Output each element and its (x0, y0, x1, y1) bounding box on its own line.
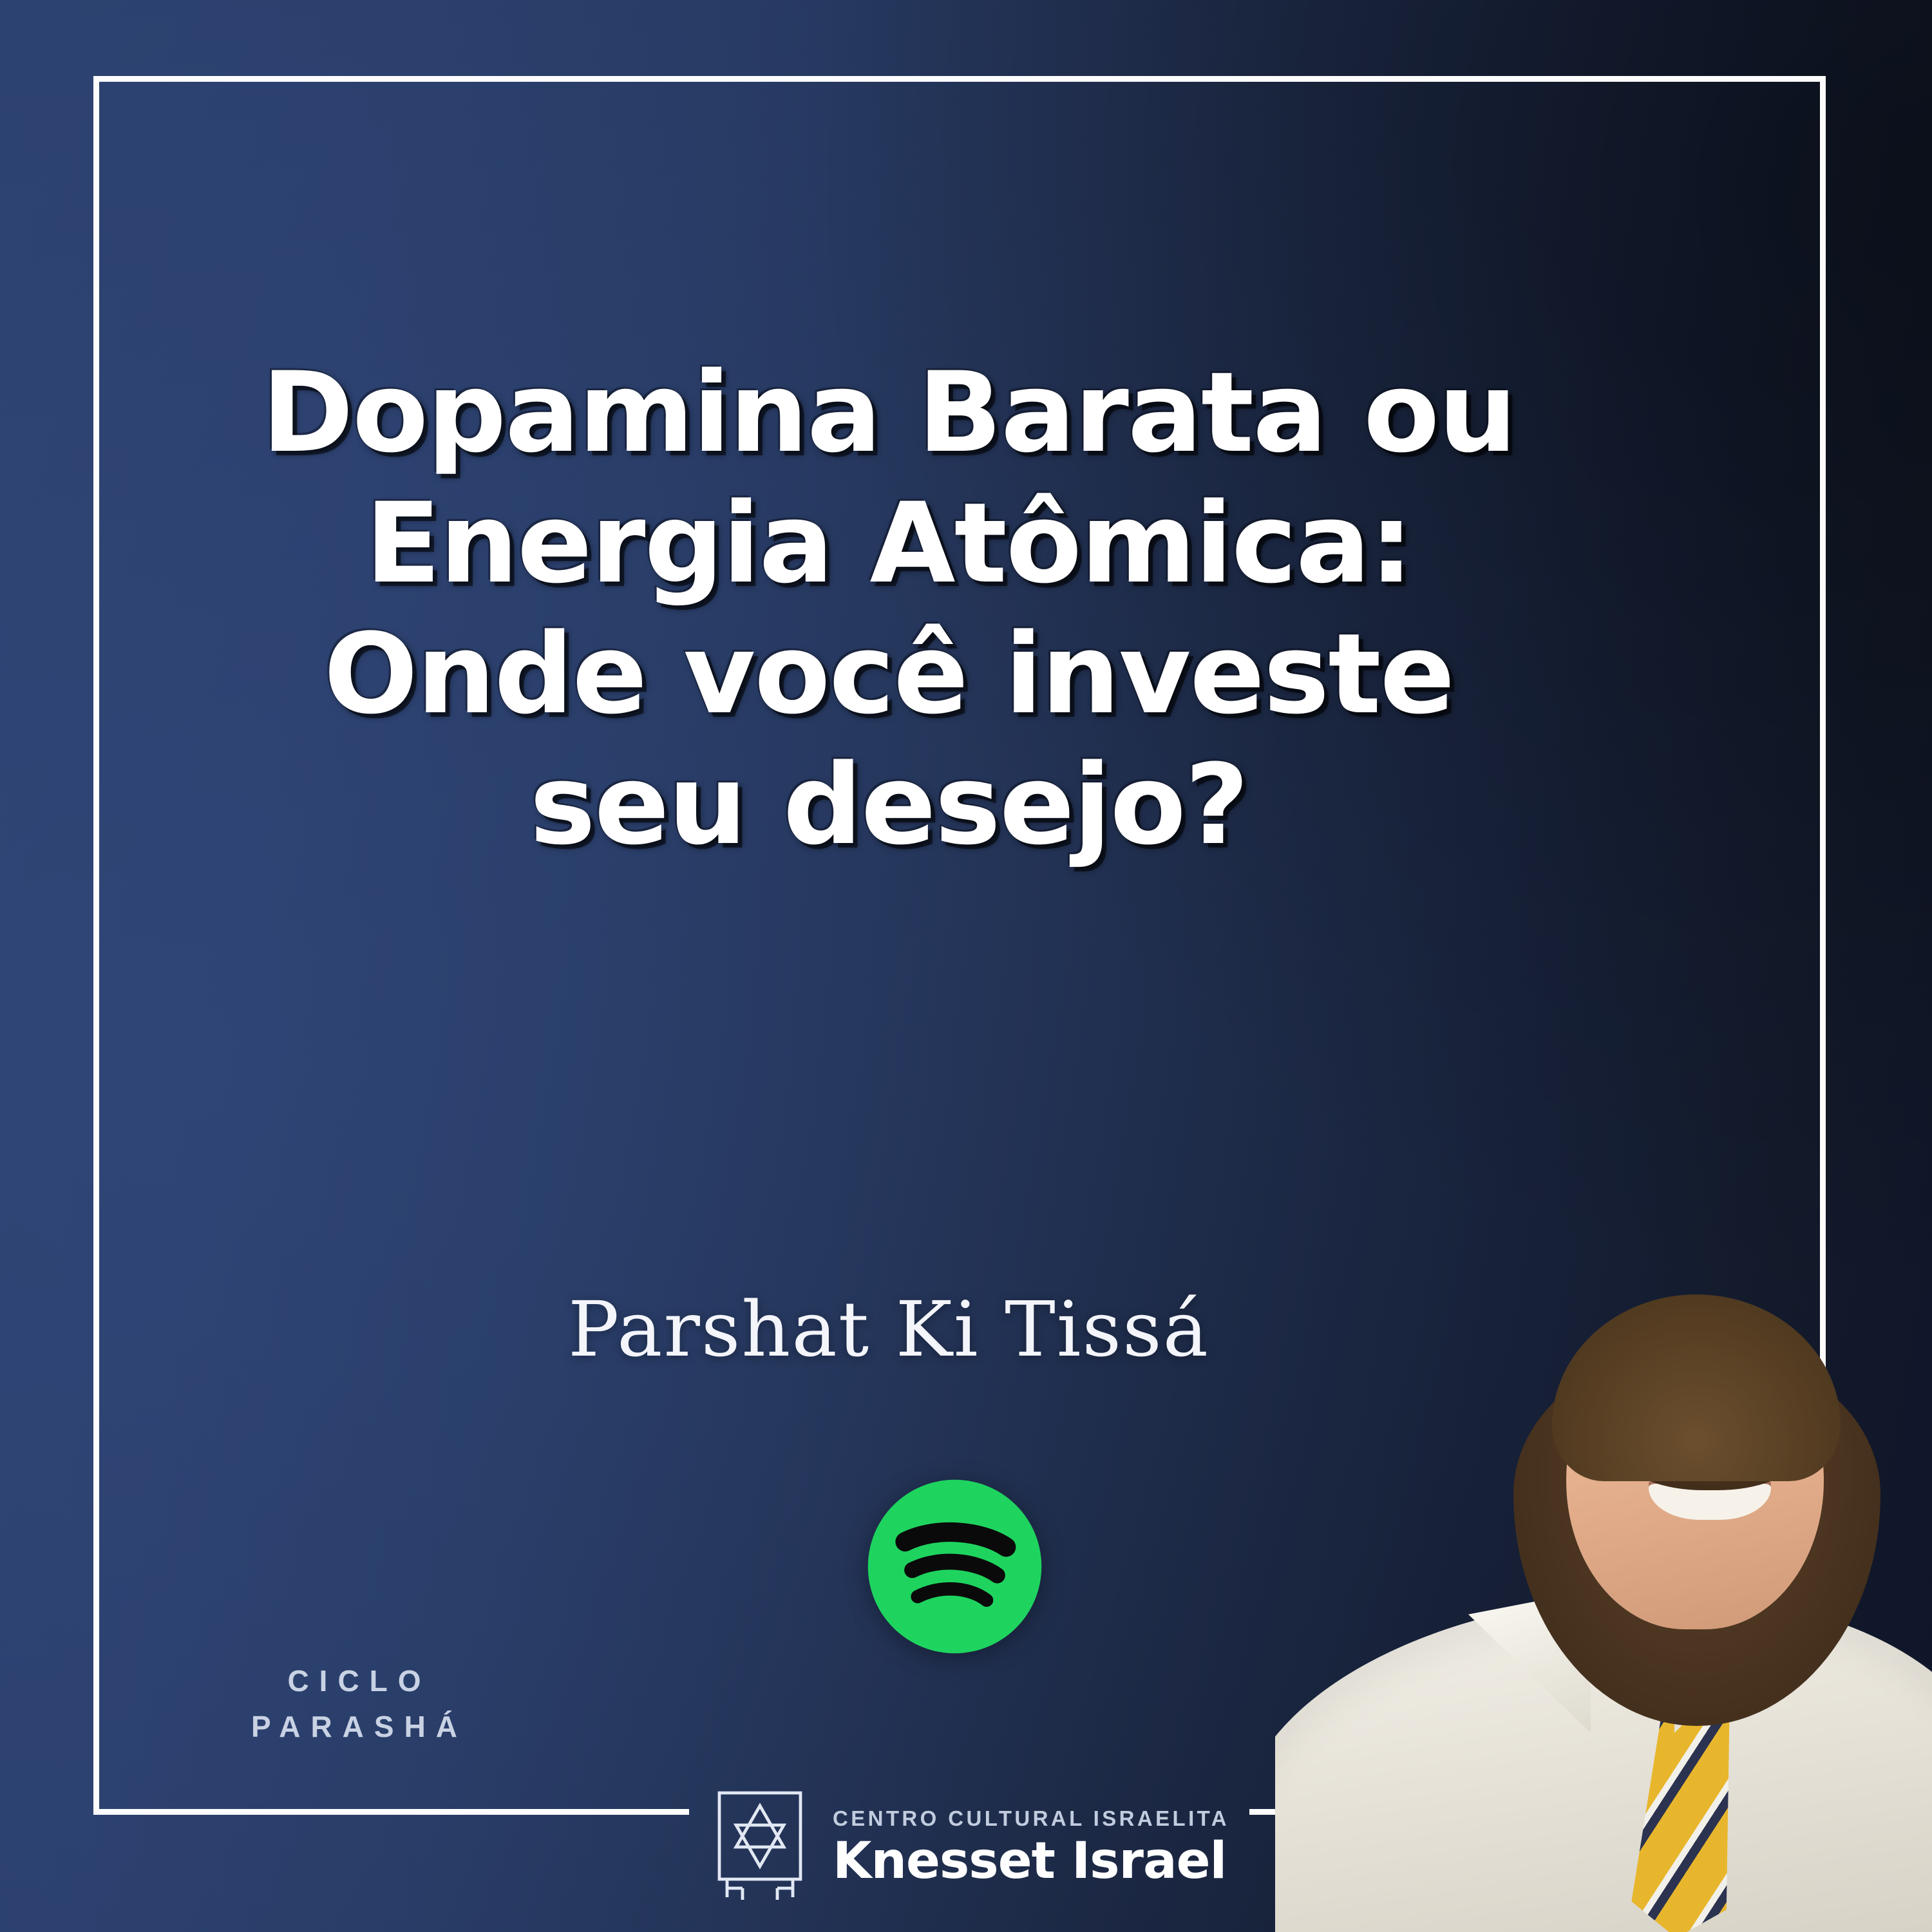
brand-kicker: CENTRO CULTURAL ISRAELITA (833, 1806, 1229, 1831)
frame-border-left (93, 76, 99, 1815)
series-label-line1: CICLO (193, 1658, 515, 1704)
portrait-hair (1552, 1294, 1841, 1481)
frame-border-bottom-left (93, 1809, 689, 1815)
series-label: CICLO PARASHÁ (193, 1658, 515, 1750)
brand-text: CENTRO CULTURAL ISRAELITA Knesset Israel (833, 1806, 1229, 1886)
page-title: Dopamina Barata ou Energia Atômica: Onde… (97, 348, 1681, 871)
brand-name: Knesset Israel (833, 1836, 1229, 1886)
frame-border-top (93, 76, 1826, 82)
series-label-line2: PARASHÁ (193, 1704, 515, 1750)
star-of-david-icon (712, 1789, 808, 1904)
speaker-portrait (1275, 1185, 1932, 1932)
poster-canvas: Dopamina Barata ou Energia Atômica: Onde… (0, 0, 1932, 1932)
spotify-icon[interactable] (866, 1478, 1043, 1655)
brand-lockup: CENTRO CULTURAL ISRAELITA Knesset Israel (712, 1789, 1229, 1904)
